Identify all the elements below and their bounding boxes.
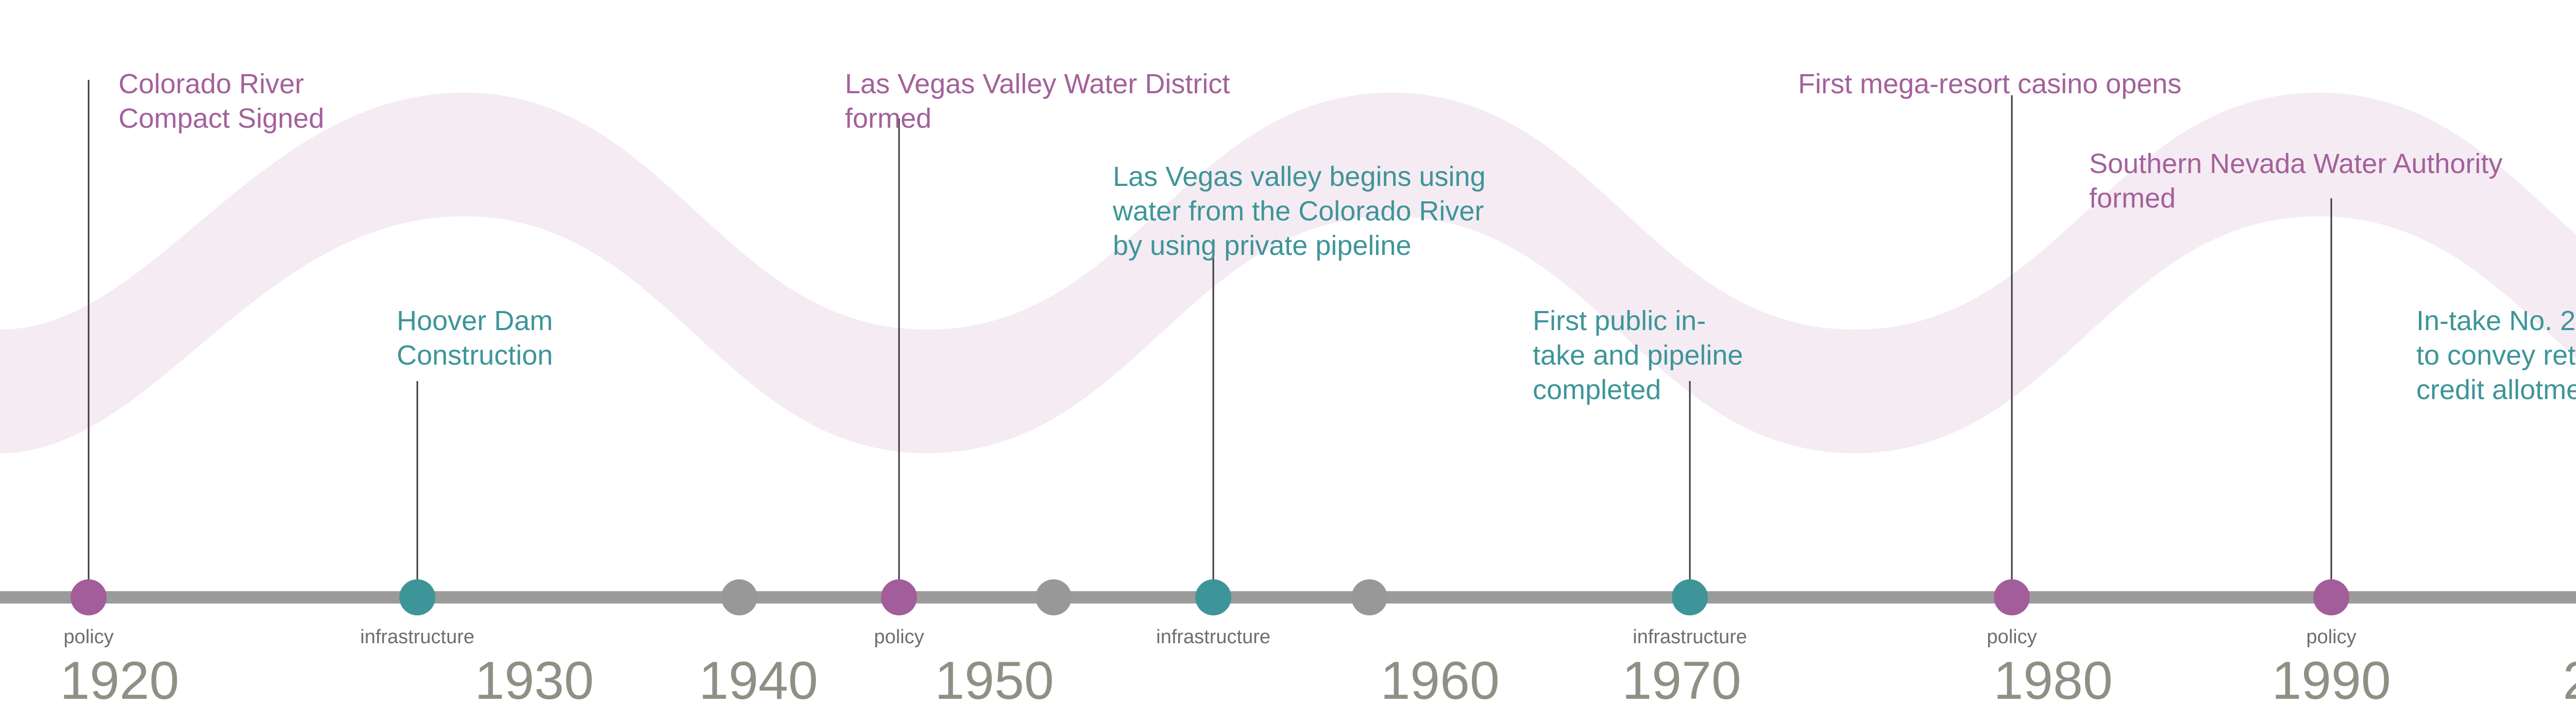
year-label-1930: 1930 (474, 654, 594, 708)
year-label-2000: 2000 (2563, 654, 2576, 708)
event-callout-colorado-river-compact-signed[interactable]: Colorado River Compact Signed (118, 67, 324, 136)
event-callout-intake-no-2-completed[interactable]: In-take No. 2 Completed to convey return… (2416, 304, 2576, 407)
event-callout-first-mega-resort-casino-opens[interactable]: First mega-resort casino opens (1798, 67, 2181, 101)
timeline-event-dot-infrastructure[interactable] (1672, 579, 1708, 615)
category-label: infrastructure (1633, 627, 1747, 647)
timeline-event-dot-policy[interactable] (881, 579, 917, 615)
year-label-1960: 1960 (1380, 654, 1499, 708)
timeline-tick-dot[interactable] (1036, 579, 1072, 615)
timeline-tick-dot[interactable] (1351, 579, 1387, 615)
year-label-1920: 1920 (60, 654, 179, 708)
leader-line-southern-nevada-water-authority-formed (2331, 198, 2332, 587)
leader-line-hoover-dam-construction (417, 381, 418, 587)
timeline-event-dot-policy[interactable] (2313, 579, 2349, 615)
timeline-event-dot-infrastructure[interactable] (1195, 579, 1231, 615)
category-label: infrastructure (360, 627, 474, 647)
year-label-1980: 1980 (1993, 654, 2112, 708)
leader-line-colorado-river-compact-signed (88, 80, 90, 587)
year-label-1940: 1940 (699, 654, 818, 708)
event-callout-las-vegas-valley-water-district-formed[interactable]: Las Vegas Valley Water District formed (845, 67, 1230, 136)
year-label-1970: 1970 (1622, 654, 1741, 708)
timeline-axis-bar (0, 591, 2576, 604)
leader-line-first-public-intake-and-pipeline-completed (1689, 381, 1691, 587)
wave-background-decoration (0, 0, 2576, 723)
event-callout-first-public-intake-and-pipeline-completed[interactable]: First public in- take and pipeline compl… (1533, 304, 1743, 407)
event-callout-las-vegas-valley-begins-colorado-river-water[interactable]: Las Vegas valley begins using water from… (1113, 160, 1486, 263)
category-label: policy (874, 627, 924, 647)
leader-line-las-vegas-valley-water-district-formed (899, 118, 900, 587)
leader-line-first-mega-resort-casino-opens (2011, 95, 2013, 587)
category-label: policy (1987, 627, 2037, 647)
timeline-event-dot-policy[interactable] (71, 579, 107, 615)
timeline-event-dot-infrastructure[interactable] (399, 579, 435, 615)
category-label: policy (2306, 627, 2356, 647)
category-label: policy (63, 627, 113, 647)
leader-line-las-vegas-valley-begins-colorado-river-water (1213, 239, 1214, 587)
event-callout-hoover-dam-construction[interactable]: Hoover Dam Construction (397, 304, 553, 373)
category-label: infrastructure (1156, 627, 1270, 647)
year-label-1990: 1990 (2272, 654, 2391, 708)
timeline-tick-dot[interactable] (721, 579, 757, 615)
timeline-infographic: SNWA TIMELINE policyinfrastructurepolicy… (0, 0, 2576, 723)
event-callout-southern-nevada-water-authority-formed[interactable]: Southern Nevada Water Authority formed (2089, 147, 2502, 216)
timeline-event-dot-policy[interactable] (1994, 579, 2030, 615)
year-label-1950: 1950 (935, 654, 1054, 708)
